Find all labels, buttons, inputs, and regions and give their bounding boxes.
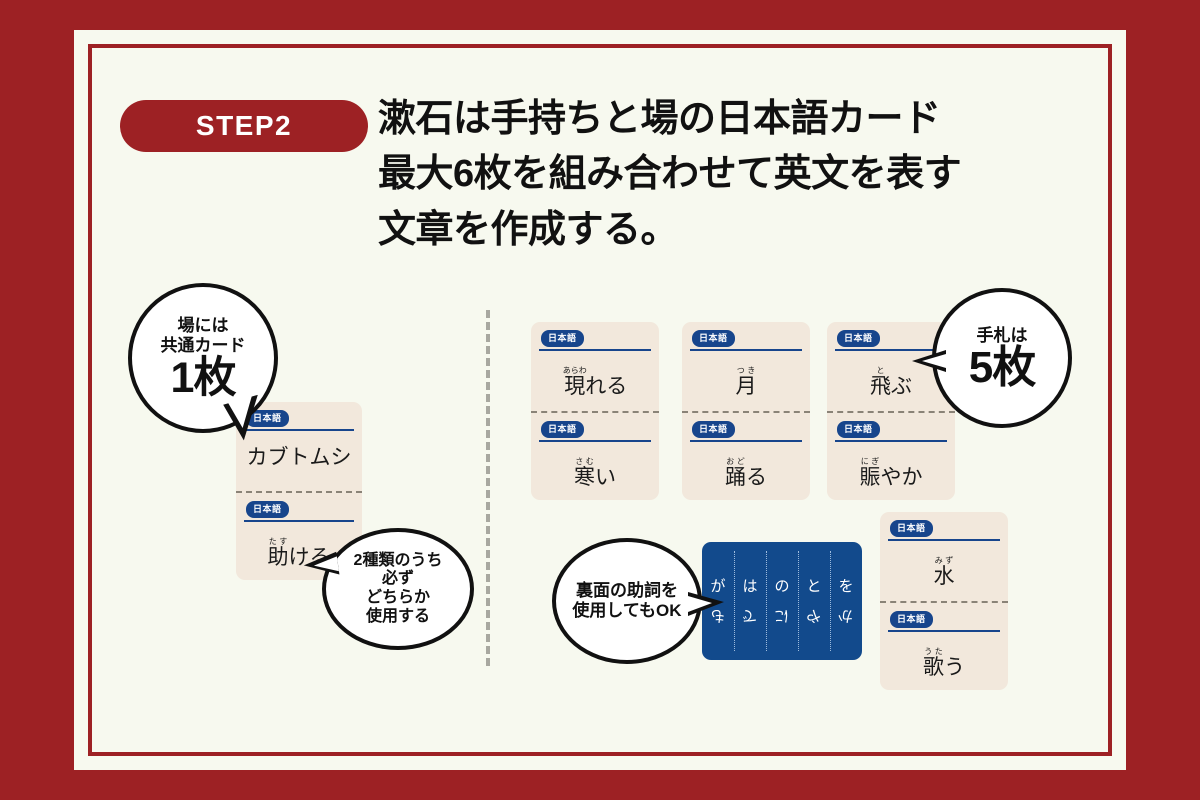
hand-card-4-bottom-half: 日本語 歌うたう <box>880 601 1008 690</box>
field-card-top-word: カブトムシ <box>236 446 362 469</box>
hand-card-3-bottom-half: 日本語 賑にぎやか <box>827 411 955 500</box>
field-callout-line-1: 場には <box>178 316 229 336</box>
particle-back: で <box>742 606 757 627</box>
hand-callout-count: 5枚 <box>969 346 1035 390</box>
language-badge: 日本語 <box>890 520 933 537</box>
particle-back: や <box>806 606 821 627</box>
particle-front: と <box>806 575 821 596</box>
hand-card-2-bottom-half: 日本語 踊おどる <box>682 411 810 500</box>
card-rule <box>888 630 1000 632</box>
card-rule <box>244 520 354 522</box>
headline-line-3: 文章を作成する。 <box>378 203 1078 258</box>
field-count-callout: 場には 共通カード 1枚 <box>128 283 278 433</box>
language-badge: 日本語 <box>541 330 584 347</box>
step-badge: STEP2 <box>120 100 368 152</box>
field-callout-count: 1枚 <box>171 357 236 400</box>
particle-front: の <box>774 575 789 596</box>
particle-back: か <box>838 606 853 627</box>
card-rule <box>539 440 651 442</box>
card-rule <box>690 349 802 351</box>
card-rule <box>835 440 947 442</box>
two-kinds-line-4: 使用する <box>366 608 430 627</box>
particle-card[interactable]: が も は で の に と や を か <box>702 542 862 660</box>
language-badge: 日本語 <box>692 330 735 347</box>
two-kinds-line-1: 2種類のうち <box>354 552 443 571</box>
card-rule <box>888 539 1000 541</box>
two-kinds-line-2: 必ず <box>382 570 414 589</box>
bubble-tail-fill <box>922 354 946 368</box>
two-kinds-line-3: どちらか <box>366 589 430 608</box>
particle-column-5: を か <box>830 542 862 660</box>
hand-card-4-top-half: 日本語 水みず <box>880 512 1008 601</box>
hand-card-3-bottom-word: 賑にぎやか <box>827 457 955 489</box>
hand-count-callout: 手札は 5枚 <box>932 288 1072 428</box>
hand-card-2-bottom-word: 踊おどる <box>682 457 810 489</box>
hand-card-1-top-half: 日本語 現あらわれる <box>531 322 659 411</box>
headline-line-2: 最大6枚を組み合わせて英文を表す <box>378 147 1078 202</box>
back-particles-line-2: 使用してもOK <box>572 601 681 621</box>
hand-card-2-top-half: 日本語 月つき <box>682 322 810 411</box>
card-rule <box>690 440 802 442</box>
particle-column-4: と や <box>798 542 830 660</box>
particle-column-3: の に <box>766 542 798 660</box>
hand-card-1[interactable]: 日本語 現あらわれる 日本語 寒さむい <box>531 322 659 500</box>
language-badge: 日本語 <box>246 501 289 518</box>
hand-card-2-top-word: 月つき <box>682 366 810 398</box>
hand-card-2[interactable]: 日本語 月つき 日本語 踊おどる <box>682 322 810 500</box>
particle-back: に <box>774 606 789 627</box>
headline: 漱石は手持ちと場の日本語カード 最大6枚を組み合わせて英文を表す 文章を作成する… <box>378 92 1078 258</box>
bubble-tail-fill <box>688 596 712 612</box>
section-divider <box>486 310 490 666</box>
hand-card-4-top-word: 水みず <box>880 556 1008 588</box>
particle-front: は <box>742 575 757 596</box>
particle-front: を <box>838 575 853 596</box>
hand-card-4[interactable]: 日本語 水みず 日本語 歌うたう <box>880 512 1008 690</box>
back-particles-line-1: 裏面の助詞を <box>576 581 678 601</box>
two-kinds-callout: 2種類のうち 必ず どちらか 使用する <box>322 528 474 650</box>
hand-card-4-bottom-word: 歌うたう <box>880 647 1008 679</box>
headline-line-1: 漱石は手持ちと場の日本語カード <box>378 92 1078 147</box>
language-badge: 日本語 <box>837 421 880 438</box>
slide-canvas: STEP2 漱石は手持ちと場の日本語カード 最大6枚を組み合わせて英文を表す 文… <box>0 0 1200 800</box>
language-badge: 日本語 <box>837 330 880 347</box>
step-badge-label: STEP2 <box>196 110 292 142</box>
hand-card-1-bottom-half: 日本語 寒さむい <box>531 411 659 500</box>
back-particles-callout: 裏面の助詞を 使用してもOK <box>552 538 702 664</box>
hand-card-1-bottom-word: 寒さむい <box>531 457 659 489</box>
language-badge: 日本語 <box>890 611 933 628</box>
language-badge: 日本語 <box>692 421 735 438</box>
hand-card-1-top-word: 現あらわれる <box>531 366 659 398</box>
field-callout-line-2: 共通カード <box>161 336 246 356</box>
particle-column-2: は で <box>734 542 766 660</box>
card-rule <box>539 349 651 351</box>
language-badge: 日本語 <box>541 421 584 438</box>
